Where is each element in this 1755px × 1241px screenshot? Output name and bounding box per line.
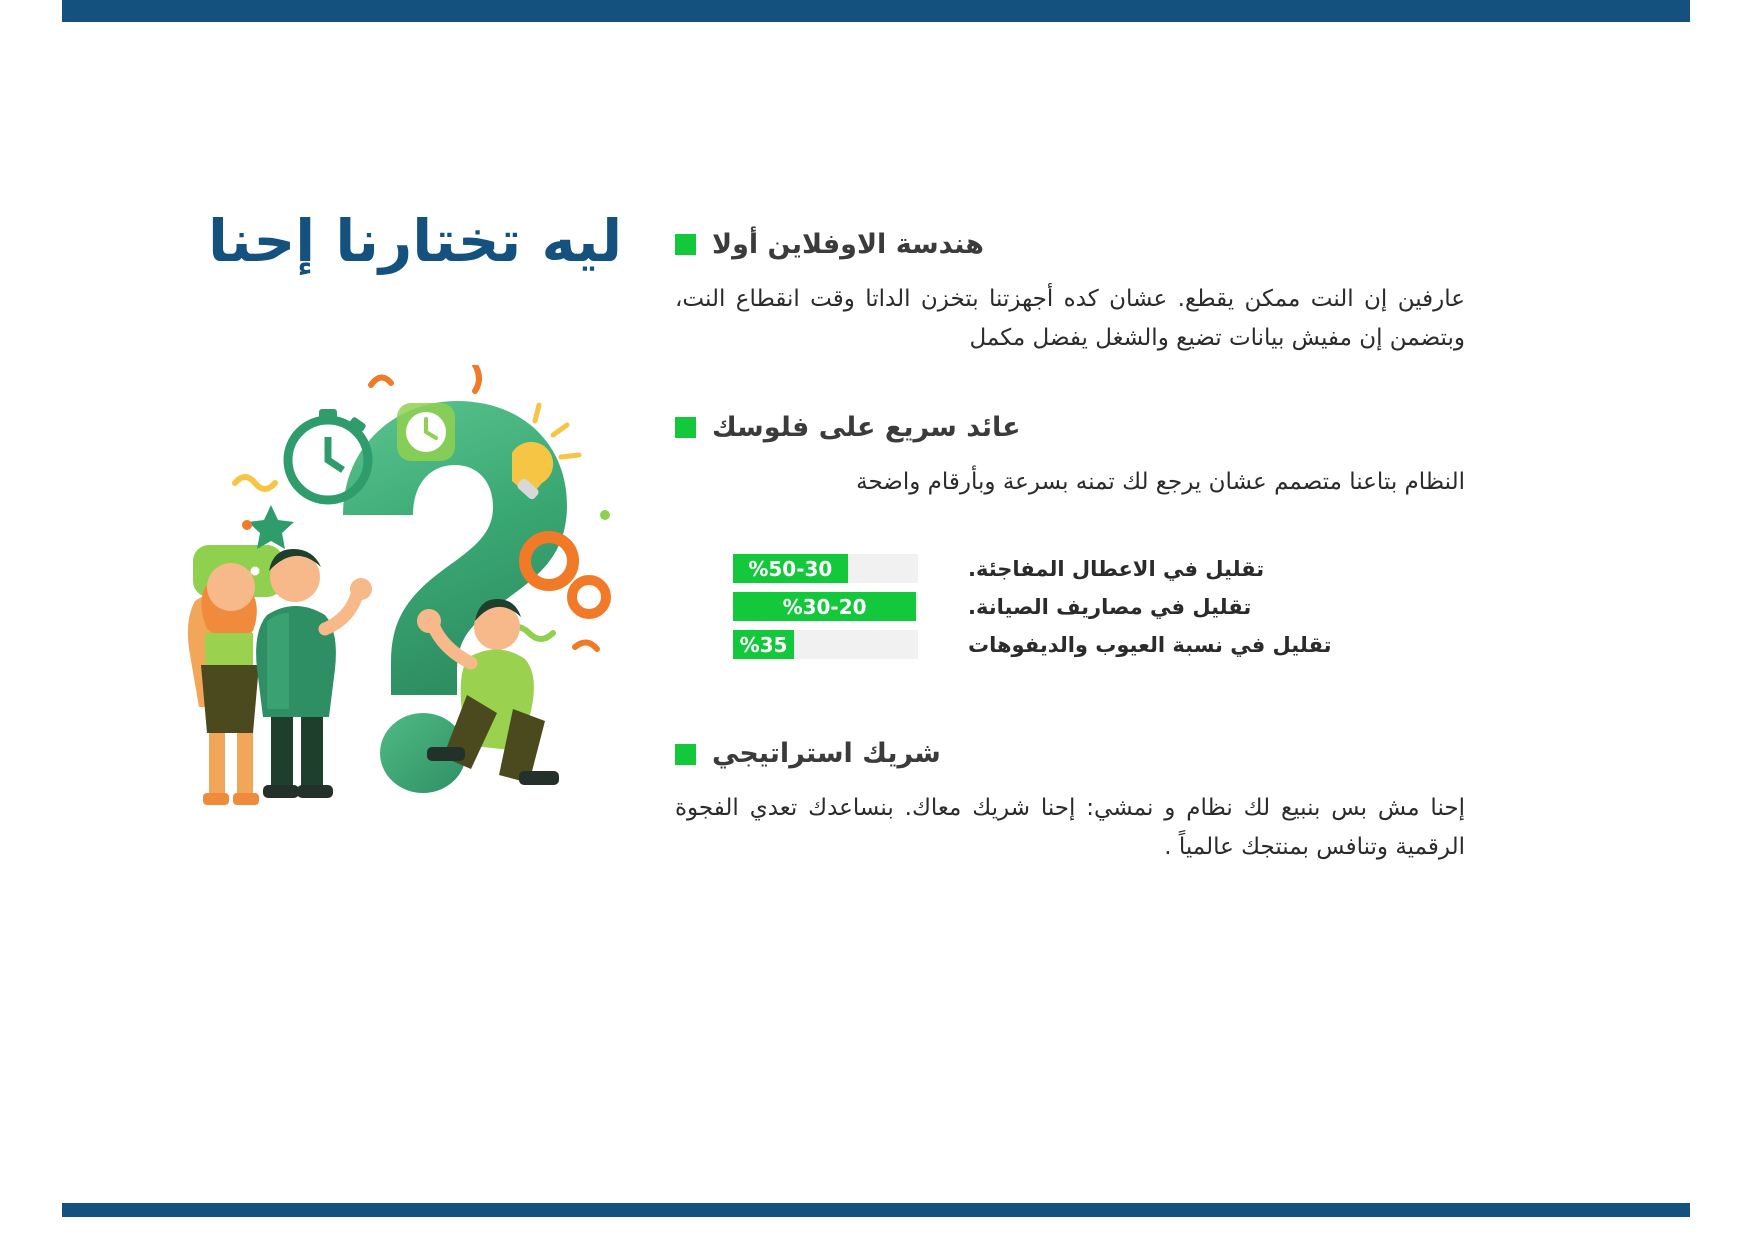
stat-label: تقليل في مصاريف الصيانة. <box>960 595 1465 619</box>
green-square-bullet-icon <box>675 417 696 438</box>
section-fast-roi: عائد سريع على فلوسك النظام بتاعنا متصمم … <box>675 411 1465 659</box>
clock-icon <box>397 403 455 461</box>
star-icon <box>248 505 294 549</box>
left-column: ليه تختارنا إحنا <box>120 210 760 910</box>
section-partner-header: شريك استراتيجي <box>675 737 1465 771</box>
section-partner-title: شريك استراتيجي <box>712 737 941 771</box>
stat-label: تقليل في الاعطال المفاجئة. <box>960 557 1465 581</box>
slide-canvas: ليه تختارنا إحنا <box>0 0 1755 1241</box>
stat-value: %30-20 <box>783 597 867 617</box>
section-offline-body: عارفين إن النت ممكن يقطع. عشان كده أجهزت… <box>675 280 1465 359</box>
section-offline-engineering: هندسة الاوفلاين أولا عارفين إن النت ممكن… <box>675 228 1465 359</box>
section-strategic-partner: شريك استراتيجي إحنا مش بس بنبيع لك نظام … <box>675 737 1465 868</box>
section-roi-header: عائد سريع على فلوسك <box>675 411 1465 445</box>
stat-label: تقليل في نسبة العيوب والديفوهات <box>960 633 1465 657</box>
stat-track: %30-20 <box>733 592 918 621</box>
section-offline-title: هندسة الاوفلاين أولا <box>712 228 984 262</box>
green-square-bullet-icon <box>675 744 696 765</box>
stat-row: تقليل في نسبة العيوب والديفوهات %35 <box>675 630 1465 659</box>
section-partner-body: إحنا مش بس بنبيع لك نظام و نمشي: إحنا شر… <box>675 789 1465 868</box>
right-column: هندسة الاوفلاين أولا عارفين إن النت ممكن… <box>675 228 1465 874</box>
stat-fill: %30-20 <box>733 592 916 621</box>
green-square-bullet-icon <box>675 234 696 255</box>
stat-value: %50-30 <box>748 559 832 579</box>
bottom-accent-bar <box>62 1203 1690 1217</box>
stat-row: تقليل في الاعطال المفاجئة. %50-30 <box>675 554 1465 583</box>
section-roi-body: النظام بتاعنا متصمم عشان يرجع لك تمنه بس… <box>675 463 1465 503</box>
stat-track: %35 <box>733 630 918 659</box>
question-mark-team-illustration <box>175 365 695 820</box>
stat-value: %35 <box>740 635 788 655</box>
stat-fill: %35 <box>733 630 794 659</box>
page-title: ليه تختارنا إحنا <box>120 210 760 274</box>
stopwatch-crown <box>319 409 337 421</box>
stat-track: %50-30 <box>733 554 918 583</box>
stat-row: تقليل في مصاريف الصيانة. %30-20 <box>675 592 1465 621</box>
section-offline-header: هندسة الاوفلاين أولا <box>675 228 1465 262</box>
stat-fill: %50-30 <box>733 554 848 583</box>
section-roi-title: عائد سريع على فلوسك <box>712 411 1021 445</box>
top-accent-bar <box>62 0 1690 22</box>
stats-bar-chart: تقليل في الاعطال المفاجئة. %50-30 تقليل … <box>675 554 1465 659</box>
person-man-center <box>256 549 372 798</box>
